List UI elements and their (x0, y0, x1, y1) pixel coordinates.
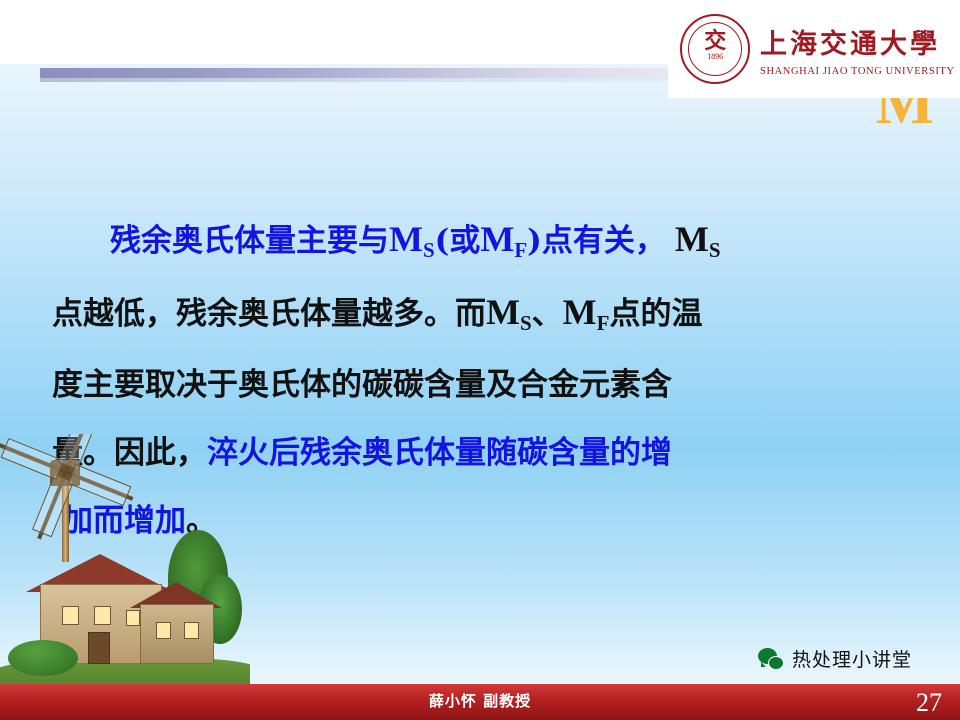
logo-text-block: 上海交通大學 SHANGHAI JIAO TONG UNIVERSITY (760, 22, 955, 77)
line1-symbol-mf: MF (480, 219, 527, 259)
body-line-1: 残余奥氏体量主要与MS(或MF)点有关， MS (52, 205, 908, 278)
house-window-4 (156, 622, 171, 639)
house-window-5 (184, 622, 199, 639)
line1-segment-a: 残余奥氏体量主要与 (110, 223, 389, 259)
wechat-icon (758, 648, 784, 670)
line2-m2-sub: F (597, 311, 610, 335)
line1-m1-base: M (389, 219, 423, 259)
footer-bar: 薛小怀 副教授 (0, 684, 960, 720)
line1-m2-sub: F (514, 238, 527, 262)
logo-name-chinese: 上海交通大學 (760, 22, 955, 61)
house-2-body (140, 604, 214, 664)
line2-segment-c: 点的温 (609, 296, 702, 332)
line1-m3-base: M (675, 219, 709, 259)
line2-symbol-ms: MS (486, 292, 532, 332)
line2-segment-a: 点越低，残余奥氏体量越多。而 (52, 296, 486, 332)
seal-inner-text: 交 1896 (695, 27, 735, 71)
house-window-1 (62, 606, 79, 625)
seal-year: 1896 (695, 54, 735, 61)
body-line-2: 点越低，残余奥氏体量越多。而MS、MF点的温 (52, 278, 908, 351)
line2-m1-base: M (486, 292, 520, 332)
wechat-icon-bubble-small (768, 656, 784, 670)
line2-m1-sub: S (520, 311, 532, 335)
body-line-3: 度主要取决于奥氏体的碳碳含量及合金元素含 (52, 351, 908, 419)
page-number: 27 (916, 688, 942, 718)
wechat-account-name: 热处理小讲堂 (792, 645, 912, 672)
line1-m2-base: M (480, 219, 514, 259)
windmill-village-illustration (0, 434, 250, 684)
footer-author: 薛小怀 副教授 (429, 690, 531, 711)
line1-m3-sub: S (709, 238, 721, 262)
illustration-bush (8, 640, 78, 676)
slide-canvas: M 交 1896 上海交通大學 SHANGHAI JIAO TONG UNIVE… (0, 0, 960, 720)
line1-symbol-ms2: MS (666, 219, 721, 259)
wechat-watermark: 热处理小讲堂 (758, 645, 912, 672)
university-seal-icon: 交 1896 (680, 14, 750, 84)
line2-segment-b: 、 (532, 296, 563, 332)
line1-segment-c: )点有关， (527, 223, 666, 259)
line1-m1-sub: S (423, 238, 435, 262)
logo-name-english: SHANGHAI JIAO TONG UNIVERSITY (760, 66, 955, 77)
house-window-2 (94, 606, 111, 625)
house-window-3 (126, 610, 140, 626)
line4-segment-b: 淬火后残余奥氏体量随碳含量的增 (207, 435, 672, 471)
line1-segment-b: (或 (435, 223, 481, 259)
windmill-blade-4 (63, 469, 133, 500)
house-door (88, 632, 110, 664)
seal-glyph: 交 (695, 30, 735, 53)
university-logo: 交 1896 上海交通大學 SHANGHAI JIAO TONG UNIVERS… (668, 0, 960, 98)
line2-m2-base: M (563, 292, 597, 332)
line2-symbol-mf: MF (563, 292, 610, 332)
line1-symbol-ms: MS (389, 219, 435, 259)
